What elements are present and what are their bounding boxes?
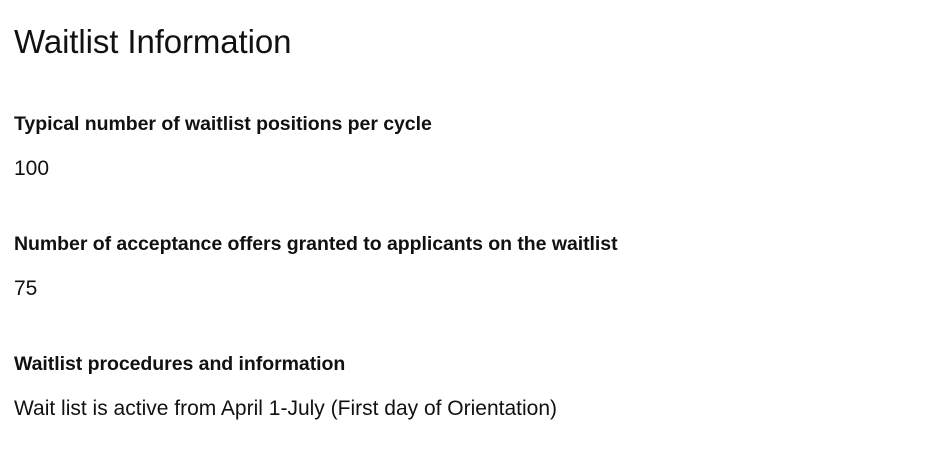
field-label-acceptance-offers: Number of acceptance offers granted to a…	[14, 232, 922, 256]
field-label-waitlist-procedures: Waitlist procedures and information	[14, 352, 922, 376]
field-group-acceptance-offers: Number of acceptance offers granted to a…	[14, 232, 922, 302]
field-label-waitlist-positions: Typical number of waitlist positions per…	[14, 112, 922, 136]
field-value-waitlist-positions: 100	[14, 136, 922, 182]
page-title: Waitlist Information	[14, 0, 922, 62]
field-value-waitlist-procedures: Wait list is active from April 1-July (F…	[14, 376, 922, 422]
field-group-waitlist-procedures: Waitlist procedures and information Wait…	[14, 352, 922, 422]
field-group-waitlist-positions: Typical number of waitlist positions per…	[14, 112, 922, 182]
field-value-acceptance-offers: 75	[14, 256, 922, 302]
waitlist-information-panel: Waitlist Information Typical number of w…	[0, 0, 936, 462]
